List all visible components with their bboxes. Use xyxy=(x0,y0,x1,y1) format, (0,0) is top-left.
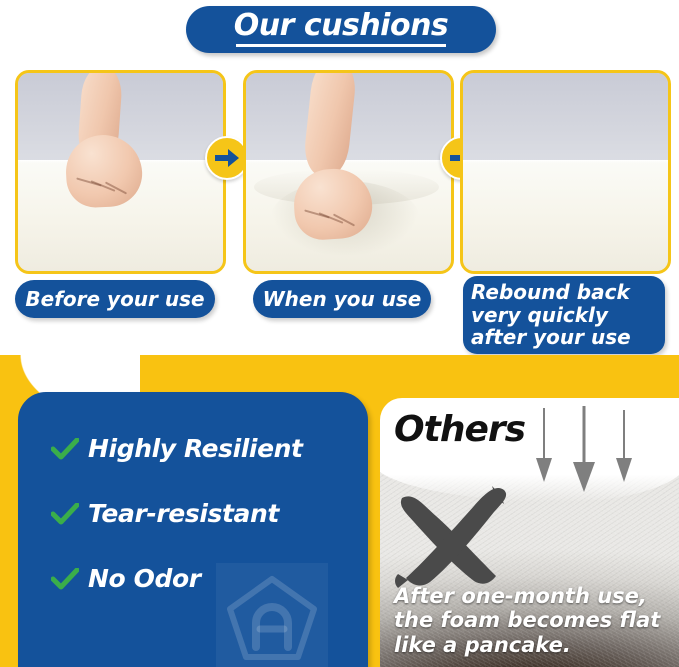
feature-item: Highly Resilient xyxy=(50,434,350,463)
brush-x-mark-icon xyxy=(392,482,518,592)
knuckle-lines xyxy=(74,177,132,199)
step-caption-text: When you use xyxy=(263,287,422,311)
step-image-after-rebound xyxy=(460,70,671,274)
features-card: Highly Resilient Tear-resistant No Odor xyxy=(18,392,368,667)
page-title-banner: Our cushions xyxy=(186,6,496,53)
down-arrow-icon xyxy=(532,406,652,498)
step-caption-during: When you use xyxy=(253,280,431,318)
check-icon xyxy=(50,568,80,590)
arrow-right-icon xyxy=(215,149,239,167)
step-image-before-use xyxy=(15,70,226,274)
feature-label: Tear-resistant xyxy=(88,499,279,528)
step-caption-line-3: after your use xyxy=(471,326,631,348)
step-caption-text: Before your use xyxy=(25,287,204,311)
step-caption-rebound: Rebound back very quickly after your use xyxy=(463,276,665,354)
step-caption-line-2: very quickly xyxy=(471,304,631,326)
step-caption-before: Before your use xyxy=(15,280,215,318)
photo-foam-surface xyxy=(463,160,668,271)
others-title: Others xyxy=(394,412,525,448)
title-underline xyxy=(236,44,446,47)
others-description: After one-month use, the foam becomes fl… xyxy=(394,584,669,657)
others-comparison-card: Others xyxy=(380,398,679,667)
feature-label: Highly Resilient xyxy=(88,434,303,463)
page-title: Our cushions xyxy=(234,11,449,41)
feature-item: Tear-resistant xyxy=(50,499,350,528)
knuckle-lines xyxy=(302,209,360,231)
infographic-page: Our cushions xyxy=(0,0,679,667)
feature-label: No Odor xyxy=(88,564,201,593)
others-line-2: the foam becomes flat xyxy=(394,608,669,632)
check-icon xyxy=(50,503,80,525)
photo-background-wall xyxy=(463,73,668,166)
pentagon-house-logo-icon xyxy=(216,563,328,667)
step-caption-line-1: Rebound back xyxy=(471,281,631,303)
check-icon xyxy=(50,438,80,460)
others-line-1: After one-month use, xyxy=(394,584,669,608)
others-line-3: like a pancake. xyxy=(394,633,669,657)
step-image-when-using xyxy=(243,70,454,274)
